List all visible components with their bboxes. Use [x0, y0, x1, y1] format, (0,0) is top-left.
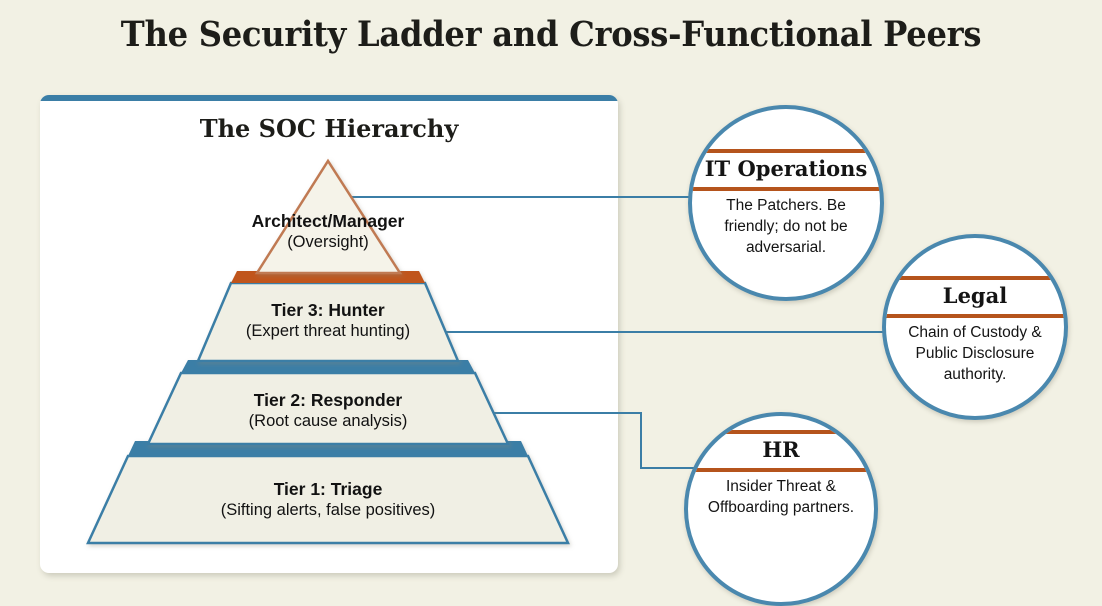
- callout-it-operations-body: The Patchers. Be friendly; do not be adv…: [692, 195, 880, 258]
- callout-hr-rule-bottom: [688, 468, 874, 472]
- callout-it-operations-title: IT Operations: [692, 156, 880, 181]
- callout-it-operations[interactable]: IT Operations The Patchers. Be friendly;…: [688, 105, 884, 301]
- page-title: The Security Ladder and Cross-Functional…: [44, 14, 1058, 55]
- pyramid-label-tier-2-title: Tier 2: Responder: [168, 390, 488, 411]
- pyramid-label-tier-2-subtitle: (Root cause analysis): [168, 411, 488, 432]
- callout-hr-title: HR: [688, 437, 874, 462]
- callout-legal-body: Chain of Custody & Public Disclosure aut…: [886, 322, 1064, 385]
- pyramid-label-architect-title: Architect/Manager: [168, 211, 488, 232]
- panel-accent-bar: [40, 95, 618, 101]
- diagram-canvas: The Security Ladder and Cross-Functional…: [0, 0, 1102, 601]
- pyramid-label-tier-3-subtitle: (Expert threat hunting): [168, 321, 488, 342]
- pyramid-label-tier-3-title: Tier 3: Hunter: [168, 300, 488, 321]
- pyramid-label-tier-1-subtitle: (Sifting alerts, false positives): [148, 500, 508, 521]
- callout-hr-rule-top: [688, 430, 874, 434]
- pyramid-label-tier-3: Tier 3: Hunter (Expert threat hunting): [168, 300, 488, 342]
- panel-heading: The SOC Hierarchy: [40, 114, 618, 143]
- pyramid-label-architect: Architect/Manager (Oversight): [168, 211, 488, 253]
- pyramid-label-tier-1-title: Tier 1: Triage: [148, 479, 508, 500]
- callout-legal-title: Legal: [886, 283, 1064, 308]
- callout-legal[interactable]: Legal Chain of Custody & Public Disclosu…: [882, 234, 1068, 420]
- callout-it-operations-rule-top: [692, 149, 880, 153]
- pyramid-label-architect-subtitle: (Oversight): [168, 232, 488, 253]
- callout-it-operations-rule-bottom: [692, 187, 880, 191]
- pyramid-label-tier-2: Tier 2: Responder (Root cause analysis): [168, 390, 488, 432]
- callout-hr-body: Insider Threat & Offboarding partners.: [688, 476, 874, 518]
- callout-hr[interactable]: HR Insider Threat & Offboarding partners…: [684, 412, 878, 606]
- callout-legal-rule-bottom: [886, 314, 1064, 318]
- callout-legal-rule-top: [886, 276, 1064, 280]
- pyramid-label-tier-1: Tier 1: Triage (Sifting alerts, false po…: [148, 479, 508, 521]
